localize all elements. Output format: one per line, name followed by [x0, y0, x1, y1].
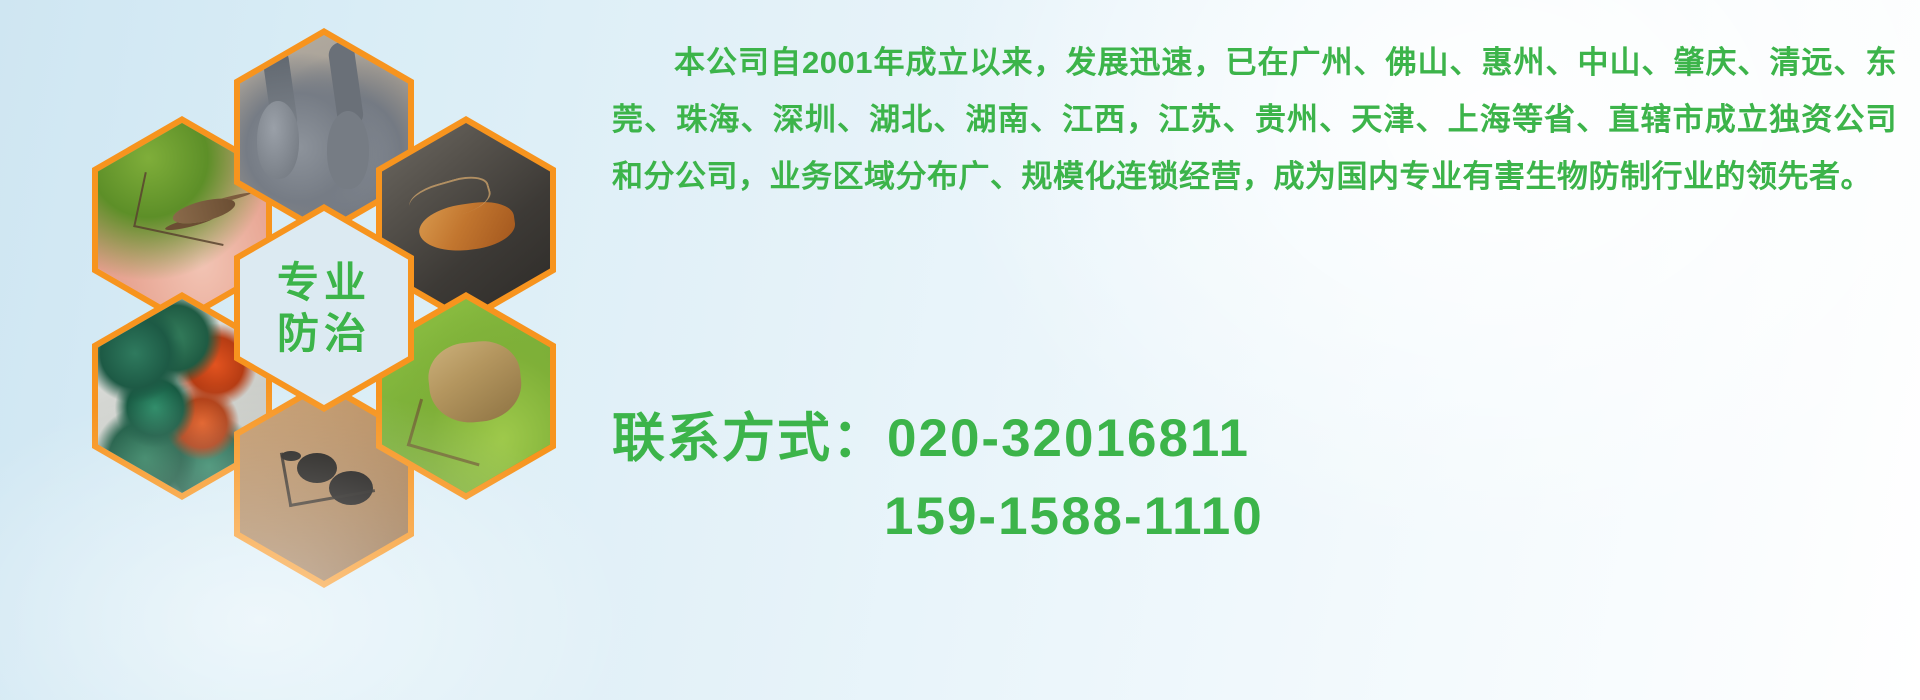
logo-slogan-line-1: 专业: [277, 257, 371, 308]
hexagon-logo-inner: 专业 防治: [240, 211, 408, 405]
logo-slogan-line-2: 防治: [277, 308, 371, 359]
contact-block: 联系方式：020-32016811 159-1588-1110: [612, 400, 1902, 556]
logo-slogan: 专业 防治: [277, 257, 371, 359]
pest-control-banner: 专业 防治 本公司自2001年成立以来，发展迅速，已在广州、佛山、惠州、中山、肇…: [0, 0, 1920, 700]
contact-line-secondary[interactable]: 159-1588-1110: [612, 478, 1902, 556]
contact-line-primary[interactable]: 联系方式：020-32016811: [612, 400, 1902, 478]
company-intro-paragraph: 本公司自2001年成立以来，发展迅速，已在广州、佛山、惠州、中山、肇庆、清远、东…: [612, 34, 1897, 205]
hexagon-collage: 专业 防治: [92, 8, 592, 578]
intro-copy-block: 本公司自2001年成立以来，发展迅速，已在广州、佛山、惠州、中山、肇庆、清远、东…: [612, 34, 1902, 205]
